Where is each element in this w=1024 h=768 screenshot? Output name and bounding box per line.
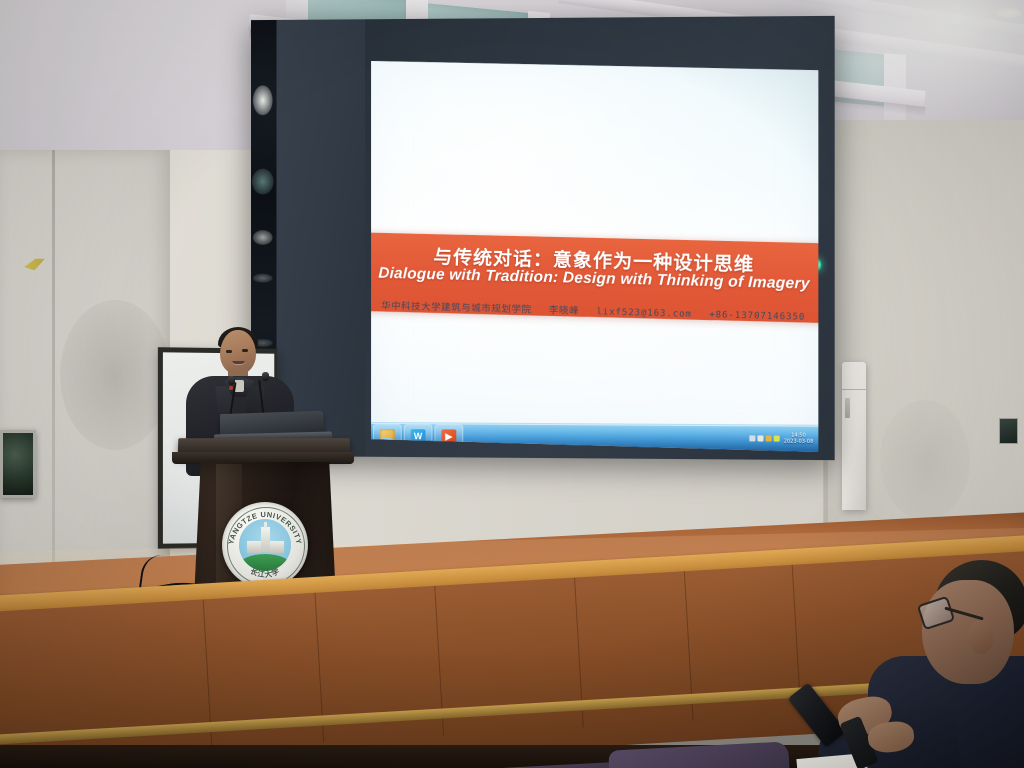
microphone-left: [228, 376, 235, 385]
slide-phone: +86-13707146350: [709, 310, 805, 323]
presenter-eye-left: [226, 350, 232, 353]
slide-email: lixf523@163.com: [596, 307, 692, 320]
taskbar-clock[interactable]: 14:50 2023-03-08: [782, 433, 816, 445]
clock-date: 2023-03-08: [782, 439, 816, 445]
slide-presenter: 李晓峰: [549, 305, 580, 317]
microphone-left-indicator: [229, 386, 233, 390]
emblem-chinese-text: 长江大学: [249, 566, 281, 579]
slide-affiliation: 华中科技大学建筑与城市规划学院: [381, 301, 532, 316]
tray-security-icon[interactable]: [774, 436, 780, 442]
emblem-text: YANGTZE UNIVERSITY 长江大学: [222, 502, 308, 588]
emblem-english-text: YANGTZE UNIVERSITY: [226, 510, 303, 545]
slide-affiliation-line: 华中科技大学建筑与城市规划学院 李晓峰 lixf523@163.com +86-…: [371, 297, 817, 323]
reflection-highlight: [253, 274, 273, 283]
microphone-right: [262, 372, 269, 381]
presenter-eye-right: [242, 349, 248, 352]
ceiling-light-fixture: [996, 8, 1022, 18]
lecture-hall-photo: 与传统对话：意象作为一种设计思维 Dialogue with Tradition…: [0, 0, 1024, 768]
tray-volume-icon[interactable]: [765, 435, 771, 441]
projection-screen: 与传统对话：意象作为一种设计思维 Dialogue with Tradition…: [371, 58, 818, 452]
floor-cabinet: [842, 362, 866, 510]
taskbar-item-powerpoint[interactable]: ▶: [434, 424, 463, 448]
wall-smudge: [60, 300, 170, 450]
cabinet-seam: [842, 389, 866, 390]
tray-action-center-icon[interactable]: [757, 435, 763, 441]
reflection-highlight: [253, 230, 273, 245]
tray-network-icon[interactable]: [749, 435, 755, 441]
windows-taskbar[interactable]: W ▶ 14:50 2023-03-08: [371, 422, 818, 452]
wps-office-icon: W: [411, 429, 426, 444]
wall-smudge: [880, 400, 970, 520]
yangtze-university-emblem: YANGTZE UNIVERSITY 长江大学: [222, 502, 308, 588]
taskbar-spacer: [463, 436, 749, 438]
system-tray[interactable]: 14:50 2023-03-08: [749, 432, 818, 445]
picture-artwork: [3, 433, 33, 495]
presenter-mouth: [232, 361, 245, 365]
reflection-highlight: [253, 85, 273, 115]
wall-vent: [999, 418, 1018, 444]
taskbar-item-wps-office[interactable]: W: [404, 424, 433, 448]
powerpoint-icon: ▶: [441, 429, 456, 444]
audience-ear: [968, 620, 994, 654]
slide-content: 与传统对话：意象作为一种设计思维 Dialogue with Tradition…: [371, 58, 818, 452]
reflection-highlight: [252, 169, 274, 195]
audience-member-with-phone: [860, 560, 1024, 768]
framed-picture: [0, 430, 36, 498]
cabinet-handle[interactable]: [845, 398, 850, 418]
